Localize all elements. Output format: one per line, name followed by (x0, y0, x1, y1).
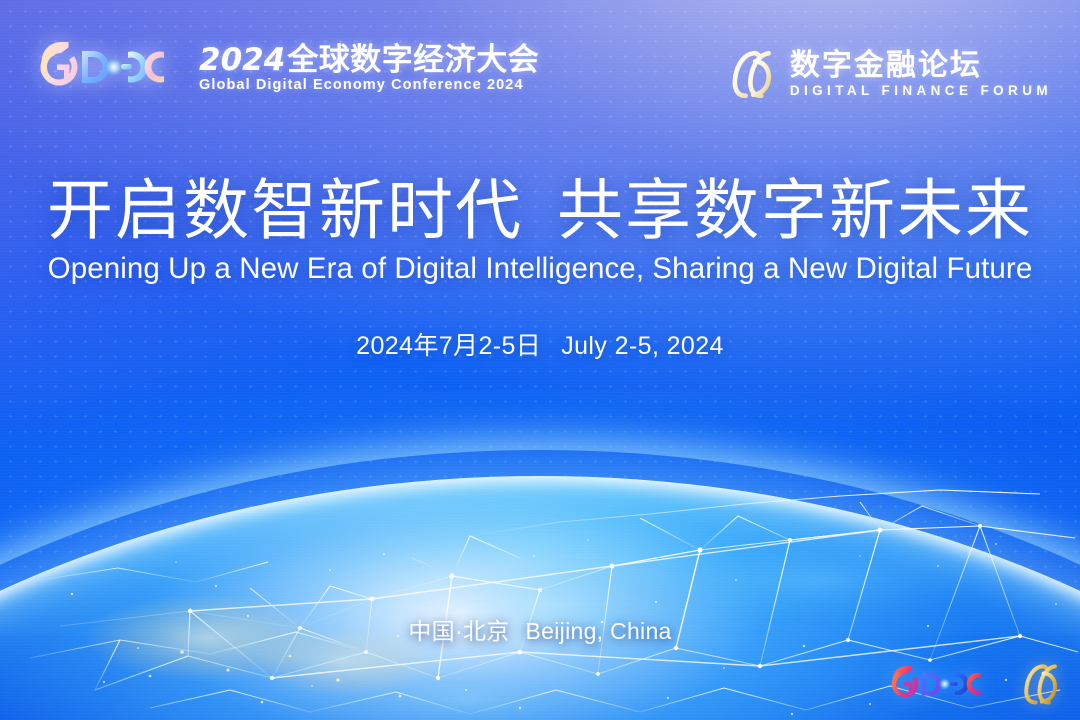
gdec-title-year: 2024 (199, 42, 285, 78)
location-cn: 中国·北京 (408, 618, 509, 644)
headline: 开启数智新时代共享数字新未来 (0, 175, 1080, 246)
ff-monogram (1018, 660, 1062, 708)
dff-logo-titles: 数字金融论坛 DIGITAL FINANCE FORUM (790, 51, 1052, 98)
gdec-title-en: Global Digital Economy Conference 2024 (199, 78, 539, 93)
hero-block: 开启数智新时代共享数字新未来 Opening Up a New Era of D… (0, 175, 1080, 362)
poster-header: 2024全球数字经济大会 Global Digital Economy Conf… (0, 0, 1080, 130)
gdec-title-cn-text: 全球数字经济大会 (287, 42, 539, 77)
gdec-title-cn: 2024全球数字经济大会 (199, 44, 539, 76)
gdec-logo-lockup: 2024全球数字经济大会 Global Digital Economy Conf… (30, 42, 539, 93)
gdec-logo-mark (30, 42, 185, 92)
dff-logo-lockup: 数字金融论坛 DIGITAL FINANCE FORUM (725, 46, 1052, 102)
dff-title-cn: 数字金融论坛 (790, 51, 1052, 81)
event-date-cn: 2024年7月2-5日 (356, 332, 541, 360)
location-en: Beijing, China (526, 618, 672, 644)
poster-canvas: 2024全球数字经济大会 Global Digital Economy Conf… (0, 0, 1080, 720)
event-date-en: July 2-5, 2024 (561, 332, 724, 360)
event-dates: 2024年7月2-5日July 2-5, 2024 (0, 326, 1080, 362)
subtitle: Opening Up a New Era of Digital Intellig… (0, 252, 1080, 286)
headline-part-2: 共享数字新未来 (557, 173, 1033, 247)
event-location: 中国·北京Beijing, China (0, 612, 1080, 646)
footer-logo-row (884, 660, 1062, 708)
headline-part-1: 开启数智新时代 (47, 173, 523, 247)
gdec-logo-titles: 2024全球数字经济大会 Global Digital Economy Conf… (199, 42, 539, 93)
ff-monogram (725, 46, 777, 102)
dff-title-en: DIGITAL FINANCE FORUM (790, 84, 1052, 98)
gdec-logo-mark (884, 666, 996, 702)
